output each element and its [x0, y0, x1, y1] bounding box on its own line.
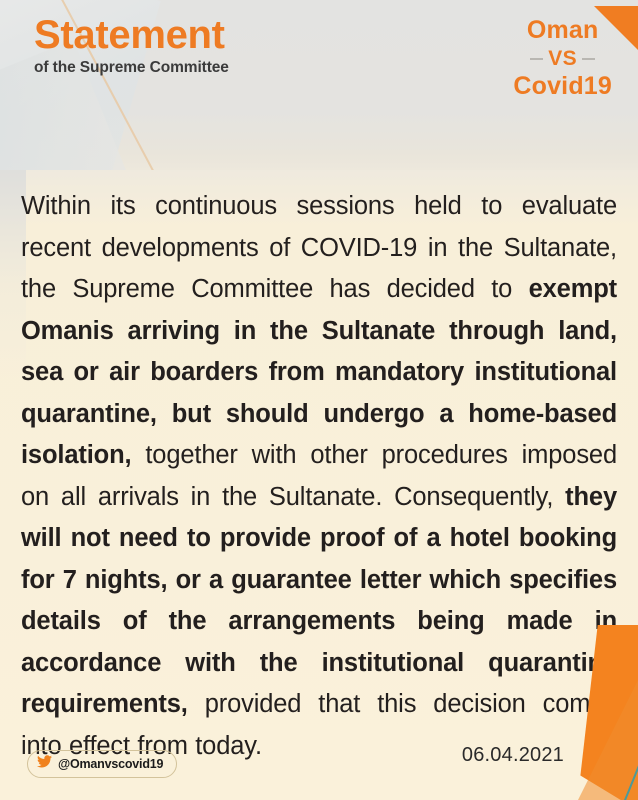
twitter-bird-icon — [37, 755, 52, 773]
statement-poster: Statement of the Supreme Committee Oman … — [0, 0, 638, 800]
page-subtitle: of the Supreme Committee — [34, 59, 229, 77]
logo-line-vs: VS — [548, 47, 577, 72]
logo-dash-right-icon — [582, 58, 595, 60]
logo-vs-row: VS — [513, 47, 612, 72]
corner-triangle-icon — [594, 6, 638, 50]
statement-segment-1: exempt Omanis arriving in the Sultanate … — [21, 275, 617, 469]
title-block: Statement of the Supreme Committee — [34, 14, 229, 77]
statement-body-text: Within its continuous sessions held to e… — [21, 186, 617, 767]
header-band: Statement of the Supreme Committee Oman … — [0, 0, 638, 178]
statement-segment-3: they will not need to provide proof of a… — [21, 483, 617, 719]
logo-line-covid: Covid19 — [513, 72, 612, 102]
logo-dash-left-icon — [530, 58, 543, 60]
statement-date: 06.04.2021 — [462, 744, 564, 767]
twitter-handle-label: @Omanvscovid19 — [58, 757, 163, 771]
body-area: Within its continuous sessions held to e… — [0, 170, 638, 800]
page-title: Statement — [34, 14, 229, 56]
statement-segment-0: Within its continuous sessions held to e… — [21, 192, 617, 303]
twitter-handle-badge[interactable]: @Omanvscovid19 — [27, 750, 177, 778]
